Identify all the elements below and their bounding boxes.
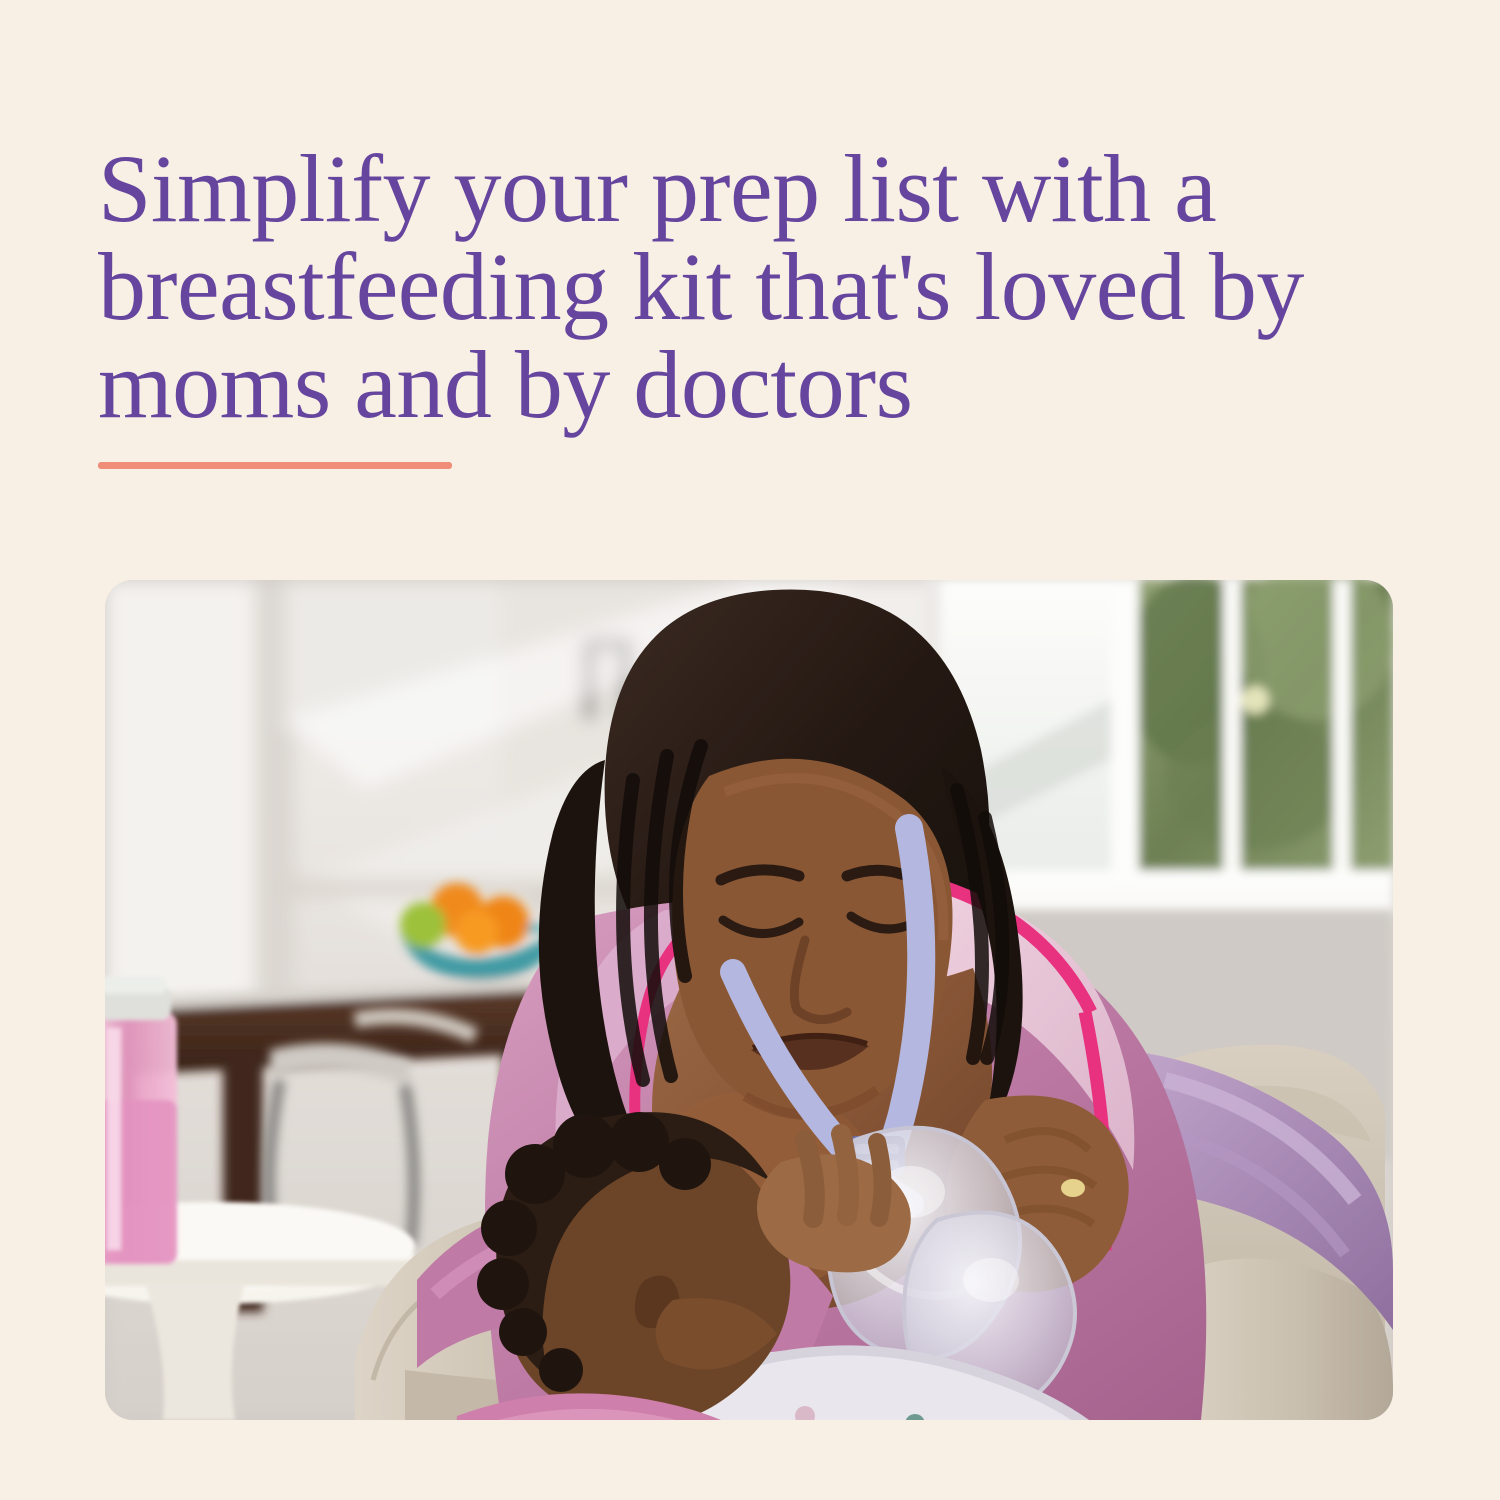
hero-photo-illustration — [105, 580, 1393, 1420]
promotional-banner: Simplify your prep list with a breastfee… — [0, 0, 1500, 1500]
water-bottle — [105, 976, 177, 1264]
page-title: Simplify your prep list with a breastfee… — [98, 140, 1418, 434]
divider-rule — [98, 462, 452, 469]
headline-block: Simplify your prep list with a breastfee… — [98, 140, 1418, 434]
hero-photo — [105, 580, 1393, 1420]
